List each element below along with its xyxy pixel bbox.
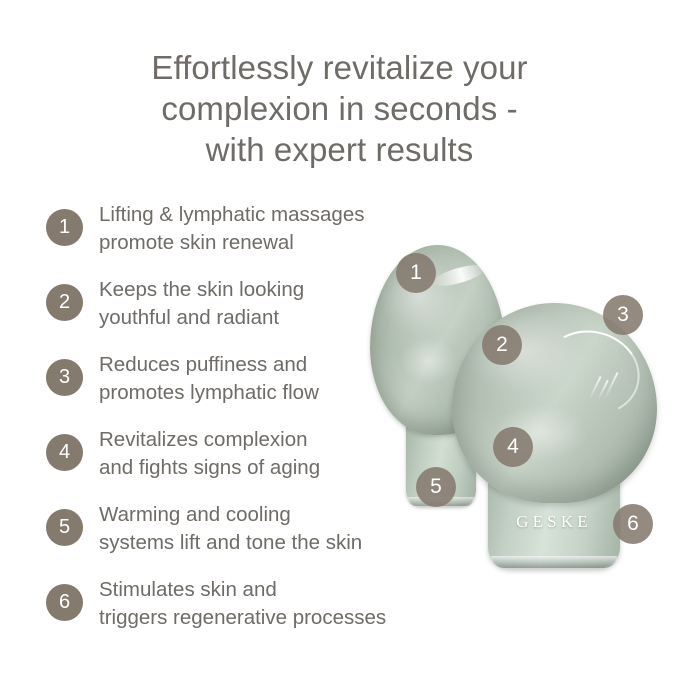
- benefit-number-badge: 2: [46, 284, 83, 321]
- benefit-number-badge: 6: [46, 584, 83, 621]
- callout-badge-2: 2: [482, 325, 522, 365]
- list-item: 6 Stimulates skin and triggers regenerat…: [46, 573, 446, 648]
- title-line-1: Effortlessly revitalize your: [60, 47, 619, 88]
- callout-badge-3: 3: [603, 295, 643, 335]
- callout-badge-4: 4: [493, 427, 533, 467]
- benefit-number-badge: 5: [46, 509, 83, 546]
- infographic-page: Effortlessly revitalize your complexion …: [0, 0, 679, 679]
- page-title: Effortlessly revitalize your complexion …: [60, 47, 619, 170]
- callout-badge-1: 1: [396, 253, 436, 293]
- benefit-number-badge: 1: [46, 209, 83, 246]
- benefit-text-line: Lifting & lymphatic massages: [99, 201, 444, 229]
- benefit-number-badge: 3: [46, 359, 83, 396]
- callout-badge-5: 5: [416, 467, 456, 507]
- brand-logo-text: GESKE: [488, 512, 620, 532]
- title-line-3: with expert results: [60, 129, 619, 170]
- product-image: GESKE 1 2 3 4 5 6: [360, 235, 679, 575]
- title-line-2: complexion in seconds -: [60, 88, 619, 129]
- benefit-number-badge: 4: [46, 434, 83, 471]
- callout-badge-6: 6: [613, 504, 653, 544]
- benefit-text: Stimulates skin and triggers regenerativ…: [99, 576, 444, 632]
- benefit-text-line: Stimulates skin and: [99, 576, 444, 604]
- benefit-text-line: triggers regenerative processes: [99, 604, 444, 632]
